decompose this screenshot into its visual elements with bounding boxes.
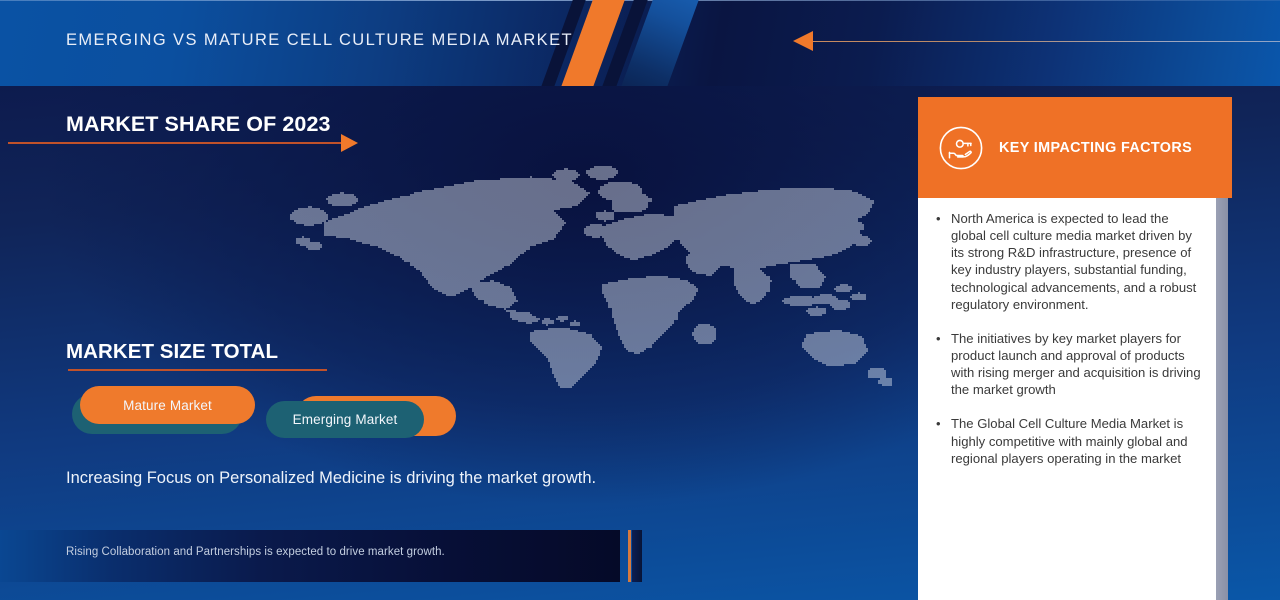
- header-arrow-line: [812, 41, 1280, 42]
- key-factor-item: •The Global Cell Culture Media Market is…: [936, 415, 1206, 466]
- market-share-title: MARKET SHARE OF 2023: [66, 112, 331, 137]
- panel-drop-shadow: [1216, 188, 1228, 600]
- key-factor-item: •The initiatives by key market players f…: [936, 330, 1206, 399]
- emerging-market-pill-group[interactable]: Emerging Market: [266, 380, 466, 440]
- hand-holding-key-icon: [938, 125, 984, 171]
- key-factor-text: North America is expected to lead the gl…: [951, 210, 1206, 313]
- bottom-band-accent: [628, 530, 631, 582]
- infographic-stage: EMERGING VS MATURE CELL CULTURE MEDIA MA…: [0, 0, 1280, 600]
- bullet-marker-icon: •: [936, 210, 942, 313]
- mature-market-pill-group[interactable]: Mature Market: [72, 386, 262, 442]
- bullet-marker-icon: •: [936, 330, 942, 399]
- market-size-title: MARKET SIZE TOTAL: [66, 340, 278, 364]
- world-map-dotted: [288, 148, 892, 396]
- key-factors-title: KEY IMPACTING FACTORS: [999, 140, 1192, 156]
- emerging-market-pill[interactable]: Emerging Market: [266, 401, 424, 438]
- header-bar: EMERGING VS MATURE CELL CULTURE MEDIA MA…: [0, 0, 1280, 86]
- key-factor-item: •North America is expected to lead the g…: [936, 210, 1206, 313]
- market-share-rule: [8, 142, 344, 144]
- key-factor-text: The initiatives by key market players fo…: [951, 330, 1206, 399]
- bottom-band-text: Rising Collaboration and Partnerships is…: [66, 546, 445, 558]
- arrow-left-icon: [793, 31, 813, 51]
- lead-statement: Increasing Focus on Personalized Medicin…: [66, 467, 606, 489]
- page-title: EMERGING VS MATURE CELL CULTURE MEDIA MA…: [66, 31, 573, 50]
- bullet-marker-icon: •: [936, 415, 942, 466]
- key-factors-header: KEY IMPACTING FACTORS: [918, 97, 1232, 198]
- bottom-band-tail: [632, 530, 642, 582]
- key-factors-list: •North America is expected to lead the g…: [918, 210, 1216, 484]
- mature-market-pill[interactable]: Mature Market: [80, 386, 255, 424]
- market-size-rule: [68, 369, 327, 371]
- key-factor-text: The Global Cell Culture Media Market is …: [951, 415, 1206, 466]
